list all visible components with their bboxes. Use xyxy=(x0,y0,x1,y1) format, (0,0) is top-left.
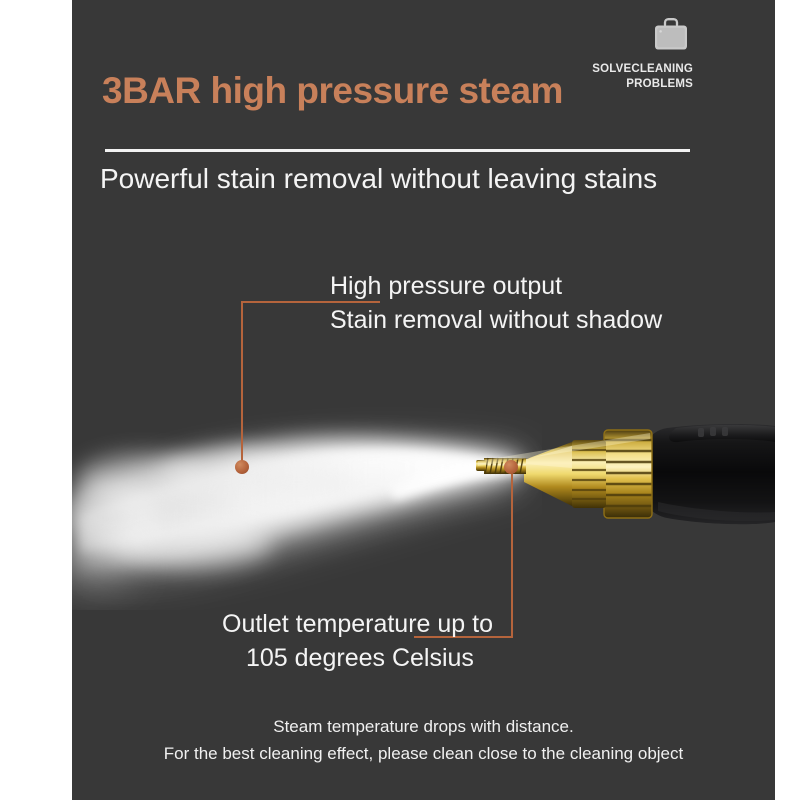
callout-top-line-1: High pressure output xyxy=(330,272,562,300)
callout-bottom-line-1: Outlet temperature up to xyxy=(222,610,493,638)
leader-line-bottom-vertical xyxy=(511,471,513,638)
dark-product-panel: 3BAR high pressure steam SOLVECLEANING P… xyxy=(72,0,775,800)
callout-dot-nozzle-tip xyxy=(504,460,518,474)
callout-top-line-2: Stain removal without shadow xyxy=(330,306,662,334)
caption-line-1: Steam temperature drops with distance. xyxy=(72,714,775,740)
header-divider xyxy=(105,149,690,152)
product-infographic: 3BAR high pressure steam SOLVECLEANING P… xyxy=(0,0,800,800)
badge-line-1: SOLVECLEANING xyxy=(543,62,693,77)
callout-high-pressure: High pressure output Stain removal witho… xyxy=(330,270,662,338)
callout-outlet-temperature: Outlet temperature up to 105 degrees Cel… xyxy=(222,608,493,676)
badge-line-2: PROBLEMS xyxy=(543,77,693,92)
callout-bottom-line-2: 105 degrees Celsius xyxy=(222,642,493,676)
briefcase-icon xyxy=(649,16,693,56)
brand-badge: SOLVECLEANING PROBLEMS xyxy=(543,16,693,91)
caption-line-2: For the best cleaning effect, please cle… xyxy=(72,741,775,767)
subtitle: Powerful stain removal without leaving s… xyxy=(100,161,657,197)
leader-line-top-vertical xyxy=(241,301,243,463)
page-title: 3BAR high pressure steam xyxy=(102,72,563,109)
callout-dot-steam xyxy=(235,460,249,474)
